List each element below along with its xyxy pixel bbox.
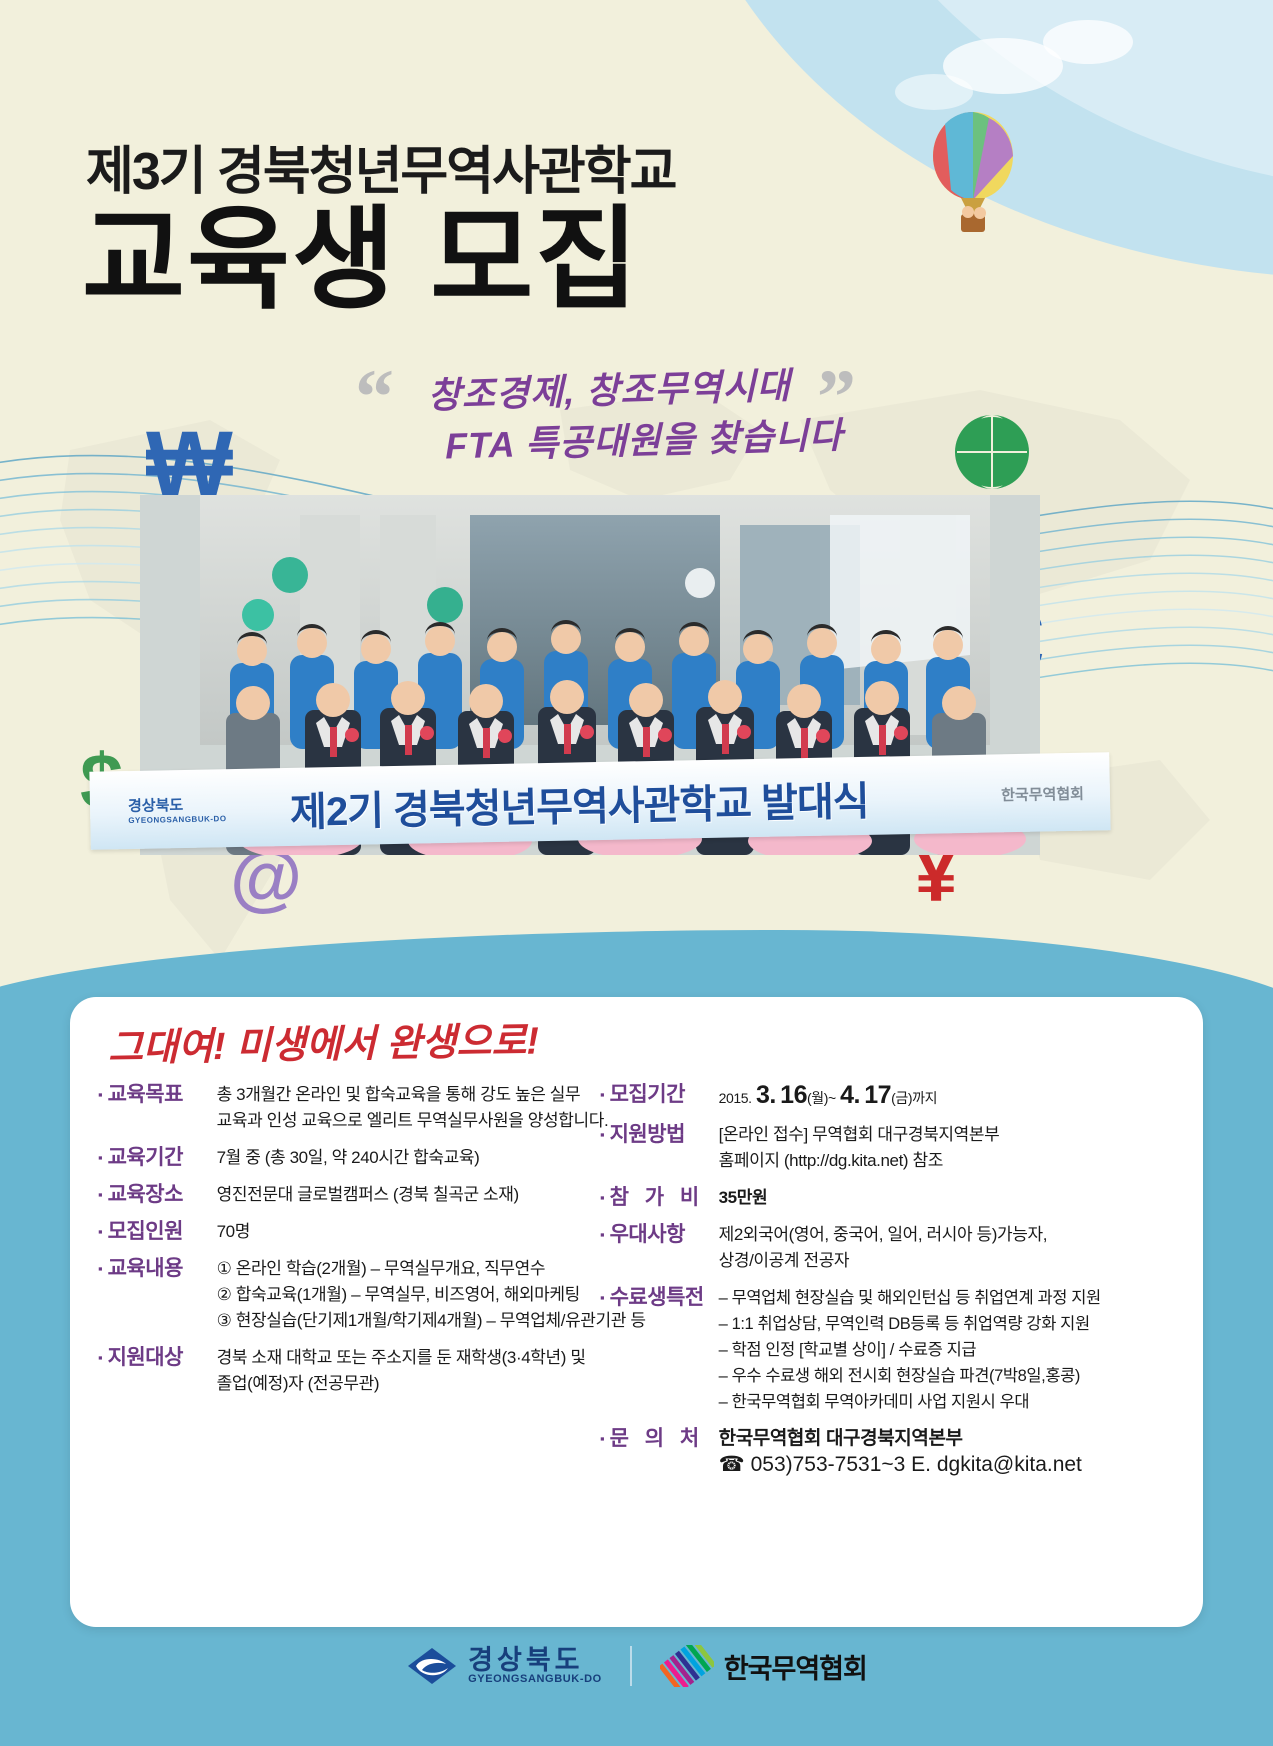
period-start-dow: (월)~ [807,1090,836,1106]
info-value-line: – 우수 수료생 해외 전시회 현장실습 파견(7박8일,홍콩) [719,1363,1190,1389]
info-row-value: 제2외국어(영어, 중국어, 일어, 러시아 등)가능자,상경/이공계 전공자 [713,1222,1190,1274]
info-row: ▪교육기간7월 중 (총 30일, 약 240시간 합숙교육) [98,1145,628,1171]
info-row-label: 참 가 비 [610,1185,713,1211]
gyeongsangbuk-en: GYEONGSANGBUK-DO [468,1674,602,1686]
info-row: ▪모집기간2015. 3. 16(월)~ 4. 17(금)까지 [600,1082,1190,1111]
poster-kicker: 제3기 경북청년무역사관학교 [86,129,675,204]
info-row-label: 교육내용 [108,1256,211,1282]
info-row: ▪교육목표총 3개월간 온라인 및 합숙교육을 통해 강도 높은 실무교육과 인… [98,1082,628,1134]
bullet-icon: ▪ [98,1082,103,1108]
info-value-line: 경북 소재 대학교 또는 주소지를 둔 재학생(3·4학년) 및 [217,1345,628,1371]
info-row-label: 교육장소 [108,1182,211,1208]
bullet-icon: ▪ [98,1256,103,1282]
hot-air-balloon-icon [925,112,1021,262]
gyeongsangbuk-mark-icon [406,1646,458,1686]
bullet-icon: ▪ [98,1182,103,1208]
bullet-icon: ▪ [98,1145,103,1171]
info-value-line: – 한국무역협회 무역아카데미 사업 지원시 우대 [719,1389,1190,1415]
info-card: 그대여! 미생에서 완생으로! ▪교육목표총 3개월간 온라인 및 합숙교육을 … [70,997,1203,1627]
poster-root: 제3기 경북청년무역사관학교 교육생 모집 “ 창조경제, 창조무역시대 FTA… [0,0,1273,1746]
info-row: ▪교육장소영진전문대 글로벌캠퍼스 (경북 칠곡군 소재) [98,1182,628,1208]
gyeongsangbuk-logo: 경상북도 GYEONGSANGBUK-DO [406,1646,602,1686]
info-value-line: 홈페이지 (http://dg.kita.net) 참조 [719,1148,1190,1174]
info-value-line: 영진전문대 글로벌캠퍼스 (경북 칠곡군 소재) [217,1182,628,1208]
bullet-icon: ▪ [600,1222,605,1248]
info-row-value: – 무역업체 현장실습 및 해외인턴십 등 취업연계 과정 지원– 1:1 취업… [713,1285,1190,1415]
info-row-label: 지원대상 [108,1345,211,1371]
banner-title-text: 제2기 경북청년무역사관학교 발대식 [290,769,869,838]
info-row-value: 70명 [211,1219,628,1245]
info-value-line: ③ 현장실습(단기제1개월/학기제4개월) – 무역업체/유관기관 등 [217,1308,646,1334]
tagline-text: 창조경제, 창조무역시대 FTA 특공대원을 찾습니다 [427,358,844,472]
kita-logo: 한국무역협회 [660,1645,867,1687]
kita-mark-icon [660,1645,714,1687]
info-value-line: 70명 [217,1219,628,1245]
info-row-value: 영진전문대 글로벌캠퍼스 (경북 칠곡군 소재) [211,1182,628,1208]
bullet-icon: ▪ [600,1082,605,1108]
info-value-line: ② 합숙교육(1개월) – 무역실무, 비즈영어, 해외마케팅 [217,1282,646,1308]
info-row-value: 35만원 [713,1185,1190,1211]
info-value-line: 제2외국어(영어, 중국어, 일어, 러시아 등)가능자, [719,1222,1190,1248]
period-start-day: 16 [780,1081,807,1109]
gyeongsangbuk-ko: 경상북도 [468,1646,602,1674]
banner-kita-logo: 한국무역협회 [1001,783,1084,806]
info-row-value: 총 3개월간 온라인 및 합숙교육을 통해 강도 높은 실무교육과 인성 교육으… [211,1082,628,1134]
info-row-label: 모집인원 [108,1219,211,1245]
quote-open-icon: “ [355,366,394,428]
info-row: ▪지원대상경북 소재 대학교 또는 주소지를 둔 재학생(3·4학년) 및졸업(… [98,1345,628,1397]
quote-close-icon: ” [817,366,856,428]
cloud-decoration [895,74,973,110]
footer-logos: 경상북도 GYEONGSANGBUK-DO 한국무역협회 [0,1645,1273,1687]
info-row-label: 우대사항 [610,1222,713,1248]
info-row-value: 한국무역협회 대구경북지역본부☎ 053)753-7531~3 E. dgkit… [713,1426,1190,1478]
info-row-value: [온라인 접수] 무역협회 대구경북지역본부홈페이지 (http://dg.ki… [713,1122,1190,1174]
info-row-value: ① 온라인 학습(2개월) – 무역실무개요, 직무연수② 합숙교육(1개월) … [211,1256,646,1334]
info-row-value: 2015. 3. 16(월)~ 4. 17(금)까지 [713,1082,1190,1111]
info-row: ▪수료생특전– 무역업체 현장실습 및 해외인턴십 등 취업연계 과정 지원– … [600,1285,1190,1415]
bullet-icon: ▪ [600,1185,605,1211]
kita-logo-text: 한국무역협회 [724,1647,867,1686]
footer-divider [630,1646,632,1686]
info-value-line: 총 3개월간 온라인 및 합숙교육을 통해 강도 높은 실무 [217,1082,628,1108]
recruit-period-line: 2015. 3. 16(월)~ 4. 17(금)까지 [719,1082,1190,1111]
tagline-line-1: 창조경제, 창조무역시대 [427,365,791,416]
info-row-label: 수료생특전 [610,1285,713,1311]
info-value-line: 졸업(예정)자 (전공무관) [217,1371,628,1397]
info-row: ▪참 가 비35만원 [600,1185,1190,1211]
bullet-icon: ▪ [98,1219,103,1245]
period-end-day: 17 [864,1081,891,1109]
gyeongsangbuk-logo-text: 경상북도 GYEONGSANGBUK-DO [468,1646,602,1686]
info-value-line: 교육과 인성 교육으로 엘리트 무역실무사원을 양성합니다. [217,1108,628,1134]
info-column-right: ▪모집기간2015. 3. 16(월)~ 4. 17(금)까지▪지원방법[온라인… [600,1082,1190,1489]
info-value-line: 한국무역협회 대구경북지역본부 [719,1426,1190,1452]
bullet-icon: ▪ [98,1345,103,1371]
info-value-line: – 무역업체 현장실습 및 해외인턴십 등 취업연계 과정 지원 [719,1285,1190,1311]
info-row: ▪모집인원70명 [98,1219,628,1245]
poster-headline: 교육생 모집 [82,200,640,321]
info-value-line: ☎ 053)753-7531~3 E. dgkita@kita.net [719,1452,1190,1478]
info-row: ▪문 의 처한국무역협회 대구경북지역본부☎ 053)753-7531~3 E.… [600,1426,1190,1478]
info-row-label: 문 의 처 [610,1426,713,1452]
period-end-month: 4. [840,1081,860,1109]
info-row-label: 교육목표 [108,1082,211,1108]
info-row: ▪지원방법[온라인 접수] 무역협회 대구경북지역본부홈페이지 (http://… [600,1122,1190,1174]
period-year: 2015. [719,1090,752,1106]
bullet-icon: ▪ [600,1122,605,1148]
info-row-label: 지원방법 [610,1122,713,1148]
bullet-icon: ▪ [600,1426,605,1452]
period-end-dow: (금)까지 [891,1090,937,1106]
banner-gyeongbuk-logo: 경상북도 GYEONGSANGBUK-DO [128,793,227,825]
cloud-decoration [1043,20,1133,64]
info-row: ▪우대사항제2외국어(영어, 중국어, 일어, 러시아 등)가능자,상경/이공계… [600,1222,1190,1274]
info-column-left: ▪교육목표총 3개월간 온라인 및 합숙교육을 통해 강도 높은 실무교육과 인… [98,1082,628,1408]
info-value-line: 상경/이공계 전공자 [719,1248,1190,1274]
info-value-line: 7월 중 (총 30일, 약 240시간 합숙교육) [217,1145,628,1171]
info-value-line: – 1:1 취업상담, 무역인력 DB등록 등 취업역량 강화 지원 [719,1311,1190,1337]
info-value-line: 35만원 [719,1185,1190,1211]
info-row-value: 경북 소재 대학교 또는 주소지를 둔 재학생(3·4학년) 및졸업(예정)자 … [211,1345,628,1397]
period-start-month: 3. [756,1081,776,1109]
info-value-line: [온라인 접수] 무역협회 대구경북지역본부 [719,1122,1190,1148]
bullet-icon: ▪ [600,1285,605,1311]
card-heading: 그대여! 미생에서 완생으로! [108,1009,540,1072]
info-row-label: 교육기간 [108,1145,211,1171]
info-value-line: – 학점 인정 [학교별 상이] / 수료증 지급 [719,1337,1190,1363]
info-value-line: ① 온라인 학습(2개월) – 무역실무개요, 직무연수 [217,1256,646,1282]
info-row-value: 7월 중 (총 30일, 약 240시간 합숙교육) [211,1145,628,1171]
info-row-label: 모집기간 [610,1082,713,1108]
info-row: ▪교육내용① 온라인 학습(2개월) – 무역실무개요, 직무연수② 합숙교육(… [98,1256,628,1334]
